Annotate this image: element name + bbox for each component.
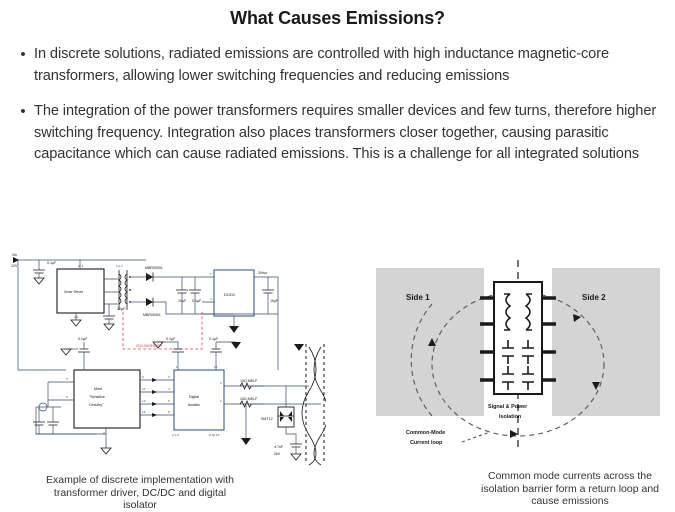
sens-pin-r12: 12 xyxy=(142,399,146,403)
iso-pin-16: 16 xyxy=(214,365,218,369)
label-dcdc-out: 3Viso xyxy=(258,271,267,275)
bullet-text: The integration of the power transformer… xyxy=(34,101,667,166)
label-melf-top: 10Ω MELF xyxy=(240,379,258,383)
bullet-marker-icon: • xyxy=(12,101,34,122)
label-cap-rect2: 0.1µF xyxy=(192,299,202,303)
right-figure-caption: Common mode currents across the isolatio… xyxy=(470,470,670,508)
list-item: • In discrete solutions, radiated emissi… xyxy=(12,44,667,87)
label-side1: Side 1 xyxy=(406,293,430,302)
label-cap-y-rating: 2kV xyxy=(274,452,281,456)
melf-resistor-top xyxy=(224,383,298,389)
label-input-cap: 0.1µF xyxy=(47,261,57,265)
label-side2: Side 2 xyxy=(582,293,606,302)
label-cap-iso1: 0.1µF xyxy=(166,337,176,341)
sensitive-circuitry-block xyxy=(74,370,140,428)
label-iso-pins-right: 9,10,15 xyxy=(209,433,220,437)
loop-leader-line xyxy=(462,432,490,442)
label-iso-pins-left: 2,7,8 xyxy=(172,433,179,437)
label-turns-primary: 2, 4 xyxy=(78,264,83,268)
label-cap-out: 10µF xyxy=(270,299,279,303)
list-item: • The integration of the power transform… xyxy=(12,101,667,166)
label-loop-1: Common-Mode xyxy=(406,430,445,436)
label-melf-bottom: 10Ω MELF xyxy=(240,397,258,401)
sens-pin-4: 4 xyxy=(103,431,105,435)
label-sensitive-3: Circuitry" xyxy=(89,403,104,407)
bullet-marker-icon: • xyxy=(12,44,34,65)
transformer-symbol xyxy=(119,270,131,310)
bullet-text: In discrete solutions, radiated emission… xyxy=(34,44,667,87)
iso-pin-3: 3 xyxy=(168,375,170,379)
label-cap-iso2: 0.1µF xyxy=(209,337,219,341)
circuit-schematic-svg: Vin 12V 0.1µF Xmer Driver 2, 4 4,6 xyxy=(6,252,326,470)
label-sensitive-2: "Sensitive xyxy=(89,395,105,399)
label-driver-cap: 10µF xyxy=(117,307,126,311)
sens-pin-6: 6 xyxy=(66,395,68,399)
label-cap-rect1: 10µF xyxy=(178,299,187,303)
sens-pin-r11: 11 xyxy=(142,387,145,391)
iso-pin-4: 4 xyxy=(168,387,170,391)
sens-pin-5: 5 xyxy=(66,377,68,381)
label-loop-2: Current loop xyxy=(410,440,443,446)
sens-pin-r6: 6 xyxy=(142,375,144,379)
melf-resistor-bottom xyxy=(224,401,298,407)
iso-barrier-line xyxy=(123,312,202,349)
label-vin-value: 12V xyxy=(11,264,18,268)
isolator-body xyxy=(494,282,542,394)
slide-root: What Causes Emissions? • In discrete sol… xyxy=(0,0,675,506)
label-diode-bottom: MBR0530L xyxy=(143,313,161,317)
isolation-diagram-svg: Side 1 Side 2 xyxy=(368,256,668,464)
label-driver-gnd-pin: 4,6 xyxy=(74,315,79,319)
label-sensitive-1: More xyxy=(94,387,102,391)
discrete-circuit-diagram: Vin 12V 0.1µF Xmer Driver 2, 4 4,6 xyxy=(6,252,326,470)
page-title: What Causes Emissions? xyxy=(0,8,675,29)
iso-pin-5: 5 xyxy=(168,399,170,403)
iso-pin-1: 1 xyxy=(176,365,178,369)
label-digital-isolator-1: Digital xyxy=(189,395,199,399)
iso-pin-1b: 1 xyxy=(220,399,222,403)
iso-pin-2a: 2 xyxy=(220,381,222,385)
label-diode-top: MBR0530L xyxy=(145,266,163,270)
label-dcdc: DC/DC xyxy=(224,293,236,297)
dcdc-pin-3: 3 xyxy=(210,297,212,301)
label-vin: Vin xyxy=(12,253,17,257)
isolation-barrier-diagram: Side 1 Side 2 xyxy=(368,256,668,464)
label-xmer-driver: Xmer Driver xyxy=(64,290,84,294)
label-tvs: SMT12 xyxy=(261,417,273,421)
sens-pin-r15: 15 xyxy=(142,410,146,414)
side2-block xyxy=(552,268,660,416)
label-digital-isolator-2: Isolator xyxy=(188,403,201,407)
label-isolation-1: Signal & Power xyxy=(488,404,528,410)
shielded-cable xyxy=(298,344,326,465)
label-turns-ratio: 1:2.1 xyxy=(116,264,123,268)
bullet-list: • In discrete solutions, radiated emissi… xyxy=(12,44,667,180)
label-cap-sens: 0.1µF xyxy=(78,337,88,341)
loop-arrow-bottom xyxy=(510,430,518,438)
diode-top xyxy=(131,273,202,282)
dcdc-pin-1: 1 xyxy=(210,272,212,276)
label-isolation-2: Isolation xyxy=(499,414,521,420)
iso-pin-6: 6 xyxy=(168,410,170,414)
label-cap-y: 4.7nF xyxy=(274,445,284,449)
digital-isolator-block xyxy=(174,370,224,430)
